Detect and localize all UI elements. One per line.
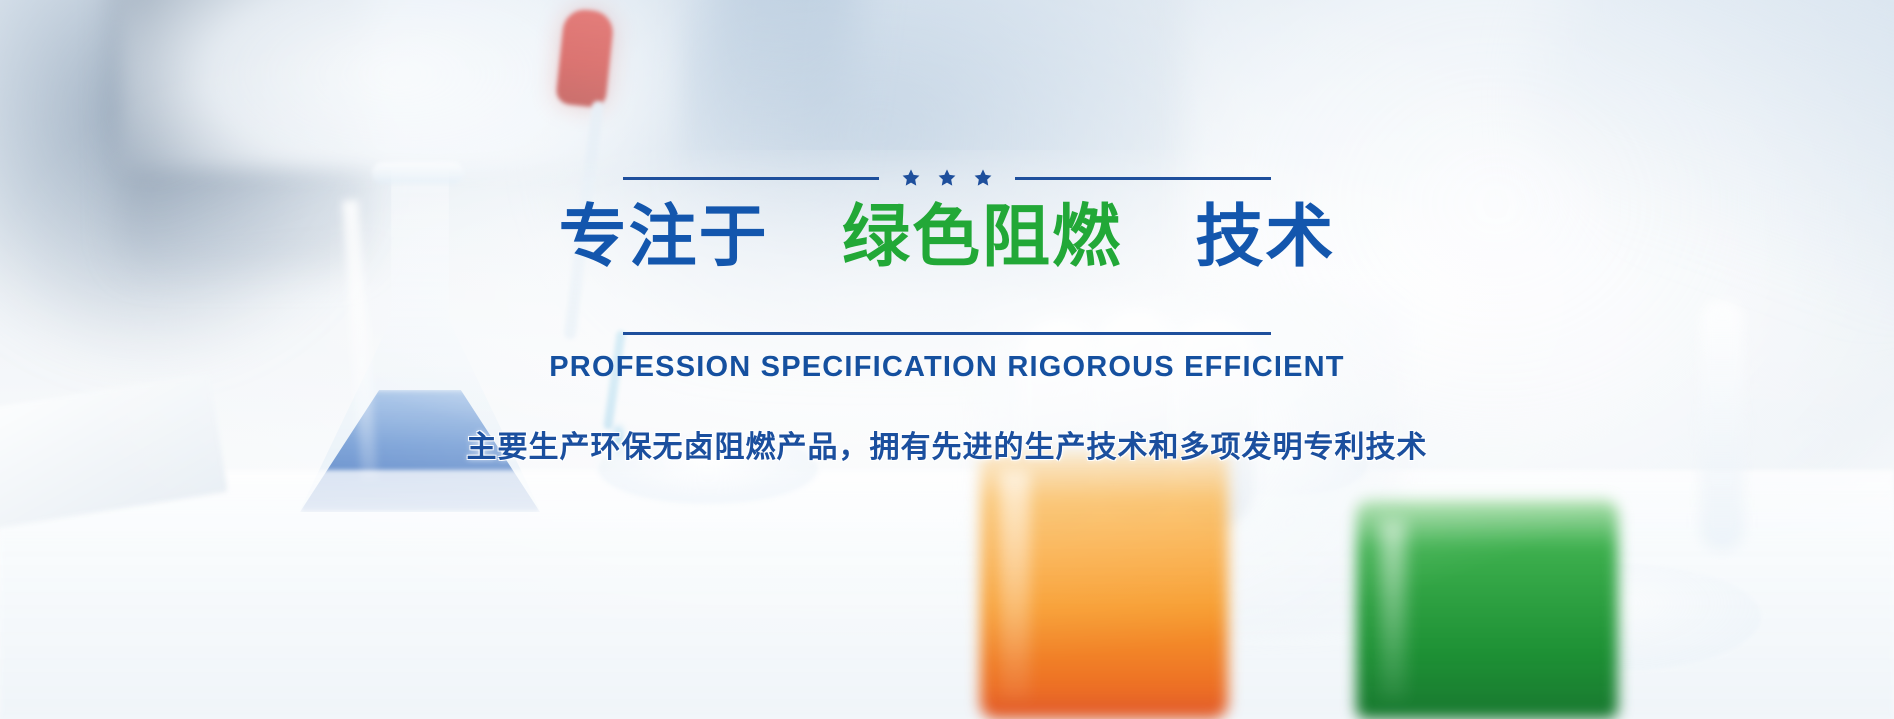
star-icon xyxy=(901,168,921,188)
headline-part-2: 绿色阻燃 xyxy=(842,198,1122,277)
tagline-chinese: 主要生产环保无卤阻燃产品，拥有先进的生产技术和多项发明专利技术 xyxy=(467,422,1428,466)
star-group xyxy=(901,168,993,188)
decorative-rule-with-stars xyxy=(623,168,1271,188)
star-icon xyxy=(973,168,993,188)
subtitle-english: PROFESSION SPECIFICATION RIGOROUS EFFICI… xyxy=(549,351,1344,384)
decorative-rule-bottom xyxy=(623,332,1271,335)
headline-part-3: 技术 xyxy=(1195,198,1335,277)
headline-part-1: 专注于 xyxy=(559,198,769,277)
star-icon xyxy=(937,168,957,188)
headline: 专注于 绿色阻燃 技术 xyxy=(559,198,1336,278)
hero-banner: 专注于 绿色阻燃 技术 PROFESSION SPECIFICATION RIG… xyxy=(0,0,1894,719)
decorative-rule-left xyxy=(623,177,879,180)
decorative-rule-right xyxy=(1015,177,1271,180)
banner-content: 专注于 绿色阻燃 技术 PROFESSION SPECIFICATION RIG… xyxy=(0,0,1894,719)
